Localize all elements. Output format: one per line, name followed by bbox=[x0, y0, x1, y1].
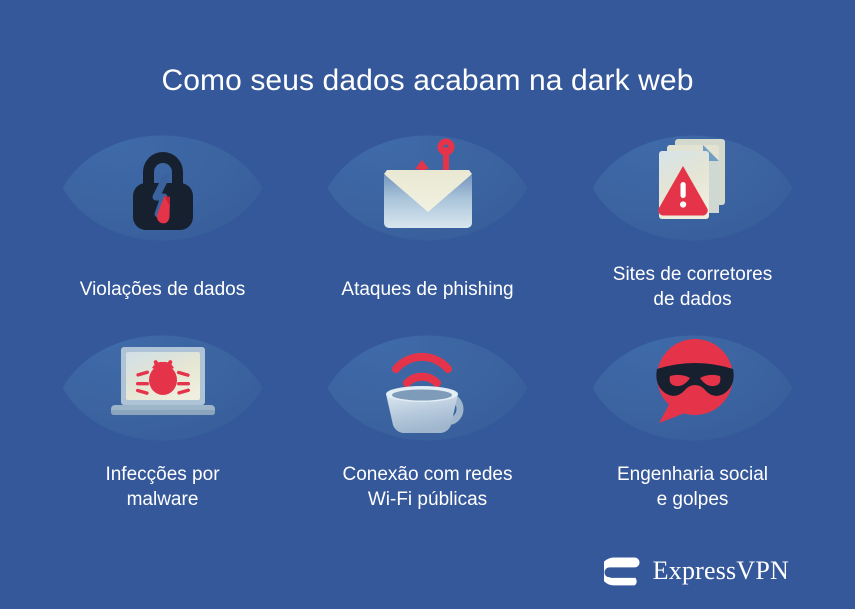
expressvpn-logo-icon bbox=[604, 555, 640, 587]
laptop-bug-icon bbox=[108, 328, 218, 438]
documents-warning-icon bbox=[638, 126, 748, 236]
lens-background bbox=[328, 112, 528, 264]
threat-card-label: Sites de corretores de dados bbox=[568, 263, 818, 312]
threat-label-line1: Violações de dados bbox=[80, 279, 246, 300]
brand-name: ExpressVPN bbox=[653, 558, 789, 584]
broken-padlock-icon bbox=[108, 133, 218, 243]
lens-background bbox=[63, 112, 263, 264]
threat-card-social-engineering: Engenharia social e golpes bbox=[560, 312, 825, 512]
threat-label-line2: e golpes bbox=[657, 489, 729, 510]
threat-card-label: Engenharia social e golpes bbox=[568, 463, 818, 512]
coffee-cup-wifi-icon bbox=[373, 328, 483, 438]
page-title: Como seus dados acabam na dark web bbox=[0, 63, 855, 99]
speech-bubble-mask-icon bbox=[638, 328, 748, 438]
brand-logo: ExpressVPN bbox=[604, 555, 789, 587]
threat-label-line2: de dados bbox=[653, 289, 731, 310]
threat-card-public-wifi: Conexão com redes Wi-Fi públicas bbox=[295, 312, 560, 512]
threat-card-label: Ataques de phishing bbox=[303, 278, 553, 302]
threat-label-line1: Infecções por bbox=[105, 464, 219, 485]
threat-label-line2: Wi-Fi públicas bbox=[368, 489, 487, 510]
threat-card-malware: Infecções por malware bbox=[30, 312, 295, 512]
lens-background bbox=[328, 312, 528, 453]
lens-background bbox=[593, 312, 793, 453]
threat-card-label: Violações de dados bbox=[38, 278, 288, 302]
threat-card-data-breaches: Violações de dados bbox=[30, 112, 295, 312]
threat-label-line1: Conexão com redes bbox=[342, 464, 512, 485]
threat-label-line1: Engenharia social bbox=[617, 464, 768, 485]
threat-label-line1: Ataques de phishing bbox=[341, 279, 513, 300]
threat-label-line1: Sites de corretores bbox=[613, 264, 772, 285]
lens-background bbox=[63, 312, 263, 453]
threat-card-label: Conexão com redes Wi-Fi públicas bbox=[303, 463, 553, 512]
infographic-canvas: Como seus dados acabam na dark web bbox=[0, 0, 855, 609]
threat-card-data-brokers: Sites de corretores de dados bbox=[560, 112, 825, 312]
threat-card-label: Infecções por malware bbox=[38, 463, 288, 512]
envelope-fishhook-icon bbox=[373, 133, 483, 243]
threat-card-phishing: Ataques de phishing bbox=[295, 112, 560, 312]
lens-background bbox=[593, 112, 793, 249]
threat-label-line2: malware bbox=[127, 489, 199, 510]
threat-grid: Violações de dados bbox=[30, 112, 825, 512]
